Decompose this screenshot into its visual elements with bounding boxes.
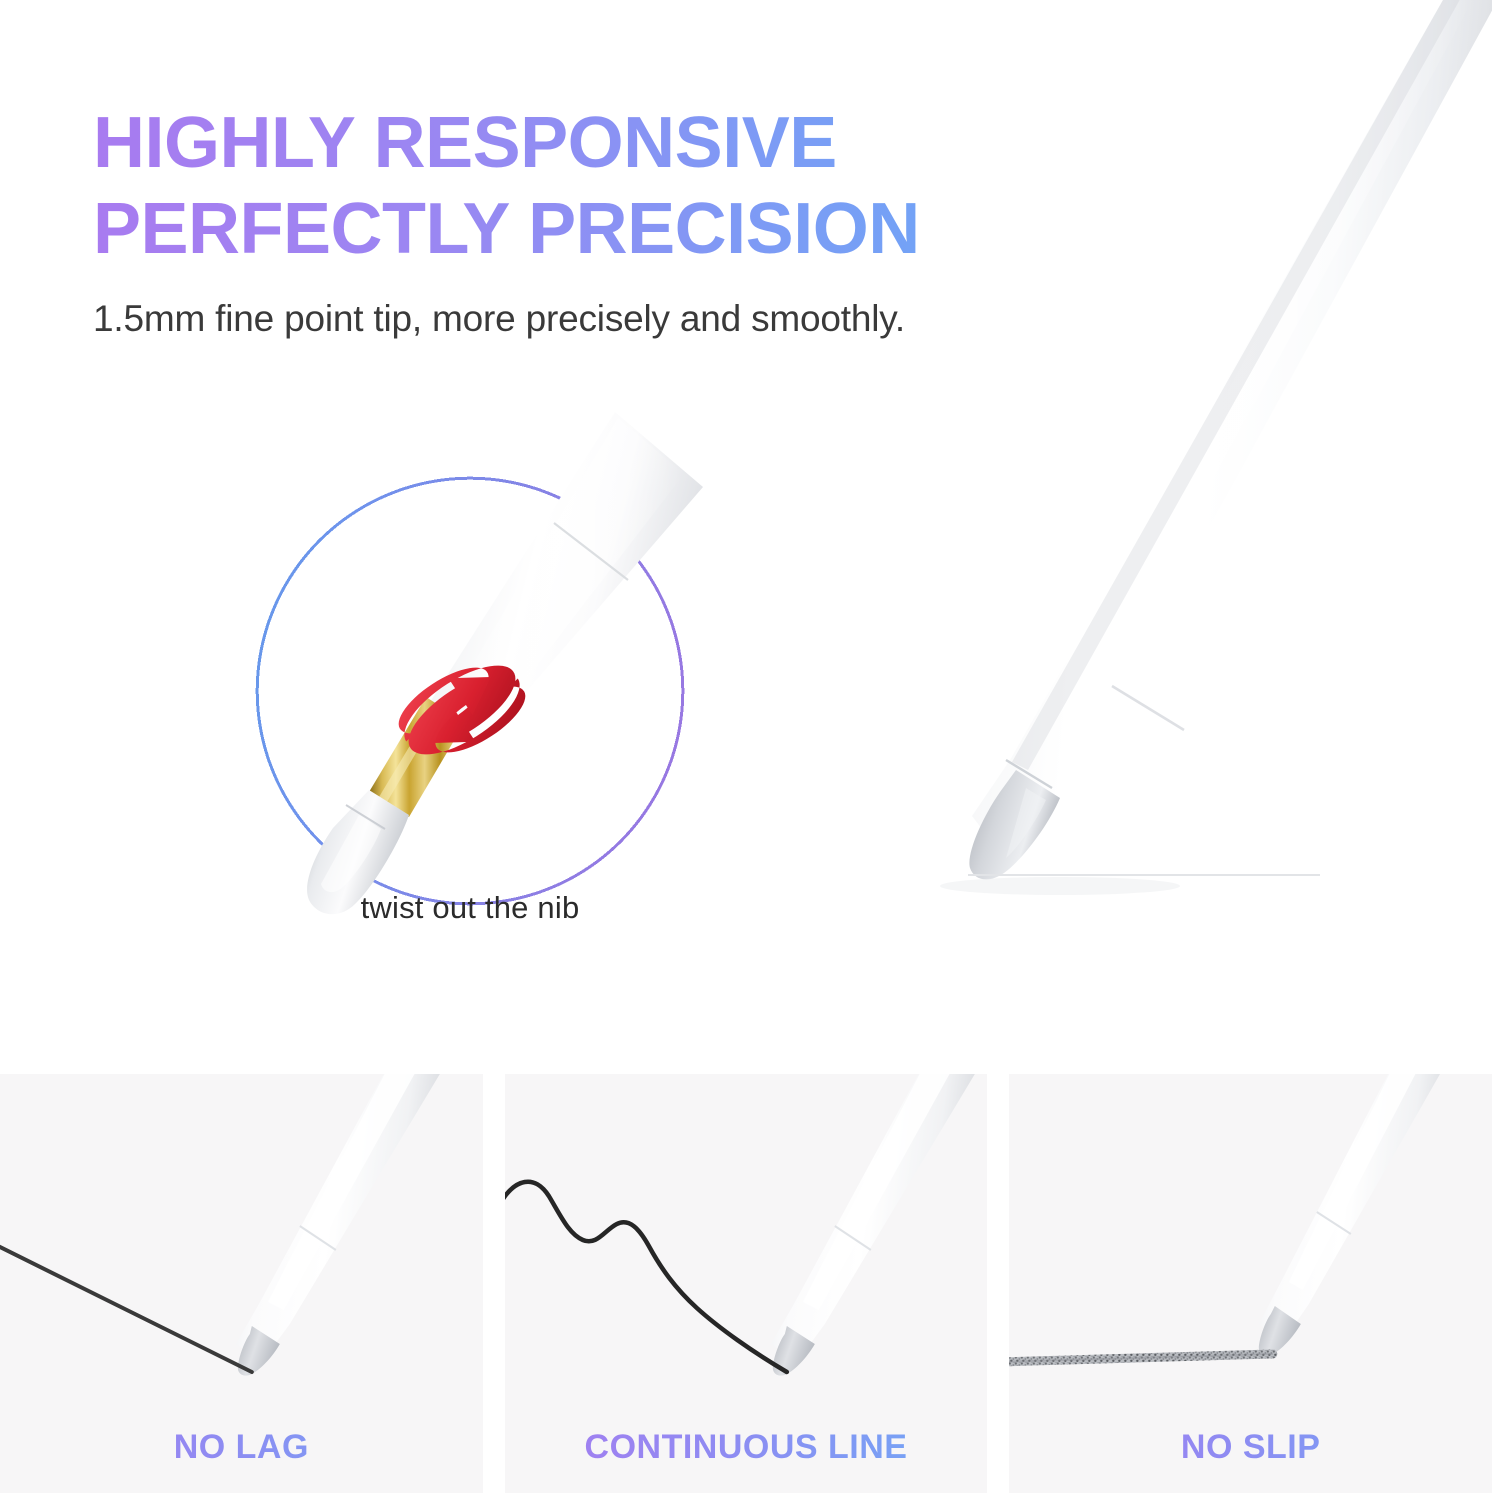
panel-no-lag: NO LAG [0, 1074, 483, 1493]
inset-caption: twist out the nib [163, 890, 777, 926]
hero-section: HIGHLY RESPONSIVE PERFECTLY PRECISION 1.… [0, 0, 1492, 1074]
panel-label-continuous-line: CONTINUOUS LINE [505, 1428, 988, 1467]
panel-label-no-lag: NO LAG [0, 1428, 483, 1467]
panel-label-no-slip: NO SLIP [1009, 1428, 1492, 1467]
panel-continuous-line: CONTINUOUS LINE [505, 1074, 988, 1493]
hero-stylus-body [972, 0, 1492, 850]
hero-stylus-illustration [760, 0, 1492, 1010]
straight-stroke [0, 1242, 252, 1372]
nib-detail-inset: twist out the nib [163, 392, 777, 990]
feature-panels: NO LAG [0, 1074, 1492, 1493]
panel-no-slip: NO SLIP [1009, 1074, 1492, 1493]
wavy-stroke [505, 1182, 787, 1372]
contact-shadow [940, 877, 1180, 895]
